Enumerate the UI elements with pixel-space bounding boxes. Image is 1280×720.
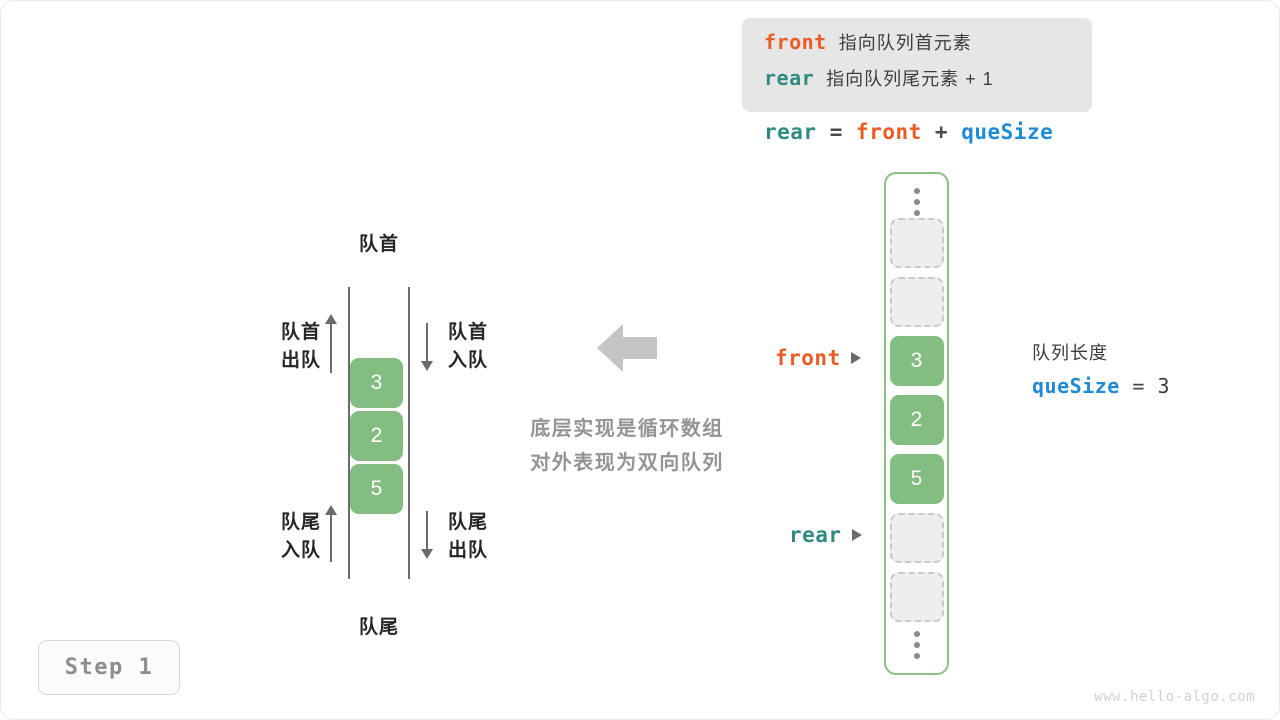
label-front-dequeue-line1: 队首 bbox=[249, 319, 321, 347]
array-cell-2: 3 bbox=[890, 336, 944, 386]
arrow-front-dequeue-head-icon bbox=[325, 314, 337, 324]
pointer-front-label: front bbox=[775, 346, 841, 370]
watermark: www.hello-algo.com bbox=[1094, 689, 1255, 705]
diagram-canvas: front 指向队列首元素 rear 指向队列尾元素 + 1 rear = fr… bbox=[0, 0, 1280, 720]
deque-cell-0: 3 bbox=[350, 358, 403, 408]
pointer-front: front bbox=[775, 346, 861, 370]
arrow-front-enqueue-head-icon bbox=[421, 361, 433, 371]
deque-cell-2: 5 bbox=[350, 464, 403, 514]
legend-desc-front: 指向队列首元素 bbox=[839, 29, 972, 55]
quesize-note-expression: queSize = 3 bbox=[1032, 374, 1170, 398]
label-front-dequeue: 队首 出队 bbox=[249, 319, 321, 375]
arrow-front-dequeue-shaft bbox=[330, 323, 332, 373]
label-rear-enqueue-line1: 队尾 bbox=[249, 509, 321, 537]
label-rear-enqueue: 队尾 入队 bbox=[249, 509, 321, 565]
legend-row-front: front 指向队列首元素 bbox=[764, 29, 1092, 65]
triangle-right-icon-rear bbox=[852, 529, 862, 541]
quesize-name: queSize bbox=[1032, 374, 1120, 398]
label-front-dequeue-line2: 出队 bbox=[249, 347, 321, 375]
array-cell-6 bbox=[890, 572, 944, 622]
center-caption: 底层实现是循环数组 对外表现为双向队列 bbox=[504, 412, 750, 480]
arrow-rear-dequeue-head-icon bbox=[421, 549, 433, 559]
deque-cell-1: 2 bbox=[350, 411, 403, 461]
label-rear-dequeue: 队尾 出队 bbox=[448, 509, 488, 565]
label-rear-enqueue-line2: 入队 bbox=[249, 537, 321, 565]
center-caption-line2: 对外表现为双向队列 bbox=[504, 446, 750, 480]
triangle-right-icon-front bbox=[851, 352, 861, 364]
deque-title-rear: 队尾 bbox=[348, 612, 410, 639]
arrow-front-enqueue-shaft bbox=[426, 323, 428, 363]
arrow-rear-dequeue-shaft bbox=[426, 511, 428, 551]
quesize-value: 3 bbox=[1157, 374, 1170, 398]
arrow-left-icon-mapping bbox=[597, 323, 657, 373]
array-cell-4: 5 bbox=[890, 454, 944, 504]
arrow-rear-enqueue-head-icon bbox=[325, 505, 337, 515]
label-rear-dequeue-line2: 出队 bbox=[448, 537, 488, 565]
array-cell-0 bbox=[890, 218, 944, 268]
pointer-rear: rear bbox=[789, 523, 862, 547]
legend-box: front 指向队列首元素 rear 指向队列尾元素 + 1 bbox=[742, 18, 1092, 112]
center-caption-line1: 底层实现是循环数组 bbox=[504, 412, 750, 446]
legend-key-rear: rear bbox=[764, 66, 814, 90]
label-rear-dequeue-line1: 队尾 bbox=[448, 509, 488, 537]
formula-rear: rear bbox=[764, 120, 817, 144]
label-front-enqueue-line2: 入队 bbox=[448, 347, 488, 375]
array-cell-1 bbox=[890, 277, 944, 327]
legend-key-front: front bbox=[764, 30, 827, 54]
formula-plus: + bbox=[935, 120, 948, 144]
formula-quesize: queSize bbox=[961, 120, 1053, 144]
step-badge: Step 1 bbox=[38, 640, 180, 695]
arrow-rear-enqueue-shaft bbox=[330, 514, 332, 562]
deque-rail-right bbox=[408, 287, 410, 579]
legend-desc-rear: 指向队列尾元素 + 1 bbox=[826, 65, 994, 91]
circular-array-frame: 3 2 5 bbox=[884, 172, 949, 675]
deque-title-front: 队首 bbox=[348, 229, 410, 256]
quesize-equals: = bbox=[1132, 374, 1145, 398]
formula-front: front bbox=[856, 120, 922, 144]
legend-row-rear: rear 指向队列尾元素 + 1 bbox=[764, 65, 1092, 101]
array-cell-5 bbox=[890, 513, 944, 563]
pointer-rear-label: rear bbox=[789, 523, 842, 547]
label-front-enqueue: 队首 入队 bbox=[448, 319, 488, 375]
quesize-note-title: 队列长度 bbox=[1032, 339, 1170, 365]
quesize-note: 队列长度 queSize = 3 bbox=[1032, 339, 1170, 398]
formula-equals: = bbox=[830, 120, 843, 144]
formula-rear-equals-front-plus-quesize: rear = front + queSize bbox=[764, 120, 1053, 144]
vertical-ellipsis-icon-bottom bbox=[914, 631, 920, 659]
vertical-ellipsis-icon-top bbox=[914, 188, 920, 216]
label-front-enqueue-line1: 队首 bbox=[448, 319, 488, 347]
array-cell-3: 2 bbox=[890, 395, 944, 445]
